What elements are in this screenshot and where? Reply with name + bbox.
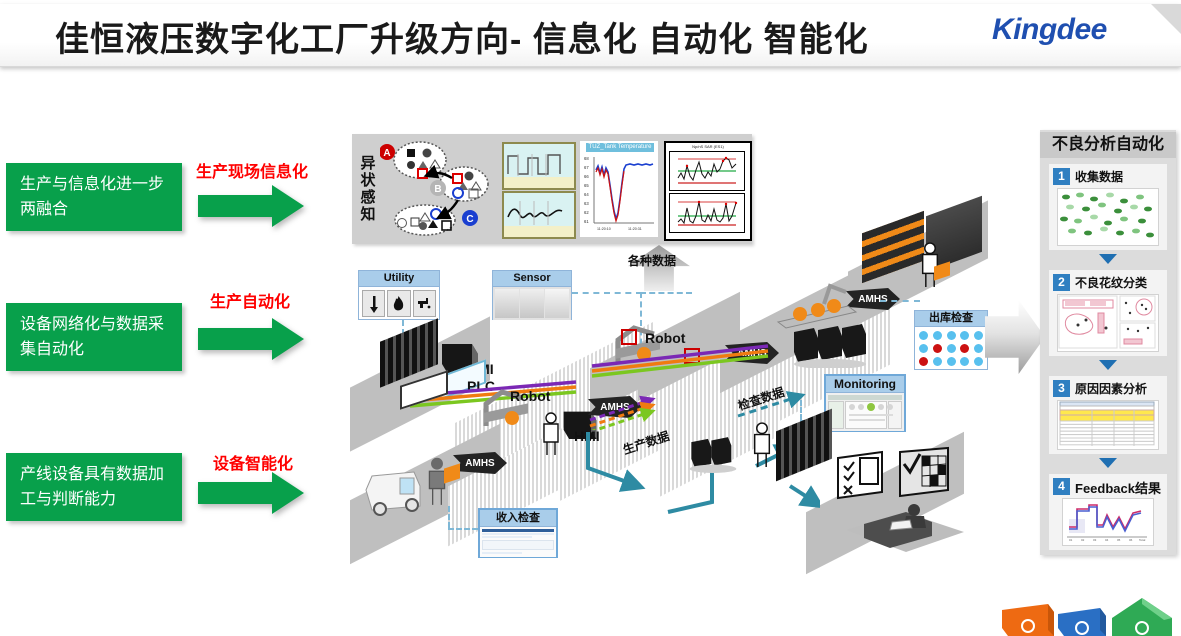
block-3-label: 产线设备具有数据加工与判断能力: [20, 466, 164, 508]
faucet-icon[interactable]: [413, 290, 436, 317]
analysis-step-1-thumb: [1057, 188, 1159, 246]
svg-text:11:20:10: 11:20:10: [597, 227, 611, 231]
svg-text:64: 64: [584, 192, 589, 197]
analysis-step-3-thumb: [1057, 400, 1159, 450]
analysis-arrow-2: [1099, 360, 1117, 370]
svg-text:A: A: [383, 148, 390, 159]
analysis-step-3[interactable]: 3 原因因素分析: [1049, 376, 1167, 454]
svg-text:04: 04: [1105, 538, 1109, 542]
outgoing-check-dot: [947, 357, 956, 366]
outgoing-check-dot: [960, 344, 969, 353]
outgoing-check-dot: [960, 331, 969, 340]
analysis-step-1[interactable]: 1 收集数据: [1049, 164, 1167, 250]
highlight-marker-1: [621, 329, 637, 345]
analysis-arrow-3: [1099, 458, 1117, 468]
svg-text:01: 01: [1069, 538, 1073, 542]
green-arrow-1: [198, 185, 304, 227]
outgoing-check-dot: [919, 357, 928, 366]
svg-text:65: 65: [584, 183, 589, 188]
outgoing-check-dot: [919, 344, 928, 353]
outgoing-check-row: [919, 357, 983, 366]
sidebar-item-block-3[interactable]: 产线设备具有数据加工与判断能力: [6, 453, 182, 521]
sensor-link-h: [572, 292, 642, 294]
analysis-step-2[interactable]: 2 不良花纹分类: [1049, 270, 1167, 356]
label-robot-1: Robot: [510, 388, 550, 404]
cluster-diagram: A B C: [380, 138, 492, 240]
worker-figure-3: [750, 422, 774, 468]
svg-text:62: 62: [584, 210, 589, 215]
incoming-link-h: [448, 528, 478, 530]
label-various-data: 各种数据: [628, 252, 676, 269]
svg-text:68: 68: [584, 156, 589, 161]
outgoing-check-dot: [933, 344, 942, 353]
monitor-cluster: [790, 322, 874, 368]
svg-text:C: C: [466, 214, 473, 225]
svg-text:67: 67: [584, 165, 589, 170]
spc-chart-upper: [669, 151, 745, 191]
outgoing-check-row: [919, 331, 983, 340]
slide-canvas: 佳恒液压数字化工厂升级方向- 信息化 自动化 智能化 Kingdee 生产与信息…: [0, 0, 1181, 625]
svg-text:63: 63: [584, 201, 589, 206]
outgoing-check-dot: [960, 357, 969, 366]
anomaly-sensing-label: 异状感知: [356, 140, 378, 238]
svg-text:11:20:31: 11:20:31: [628, 227, 642, 231]
outgoing-check-dot: [947, 331, 956, 340]
monitoring-panel[interactable]: Monitoring: [824, 374, 906, 432]
green-arrow-2: [198, 318, 304, 360]
outgoing-check-dot: [974, 331, 983, 340]
analysis-step-4-label: Feedback结果: [1075, 478, 1161, 497]
svg-text:03: 03: [1093, 538, 1097, 542]
monitoring-title: Monitoring: [826, 376, 904, 393]
spc-chart-title: Np/nS SAR (ES1): [666, 144, 750, 149]
monitor-cluster-2: [688, 430, 758, 476]
svg-text:B: B: [434, 184, 441, 195]
mini-chart-wave: [502, 191, 576, 239]
footer-logo-blocks: [996, 596, 1181, 636]
arrow-label-1: 生产现场信息化: [196, 158, 308, 182]
green-arrow-3: [198, 472, 304, 514]
page-title: 佳恒液压数字化工厂升级方向- 信息化 自动化 智能化: [55, 12, 869, 61]
sensor-thumb-3: [545, 289, 569, 318]
analysis-step-2-number: 2: [1053, 274, 1070, 291]
outgoing-check-dot: [933, 357, 942, 366]
outgoing-check-dot: [933, 331, 942, 340]
tank-temperature-chart-title: TUZ_Tank Temperature: [586, 143, 654, 152]
outgoing-check-dot: [974, 357, 983, 366]
incoming-check-panel[interactable]: 收入检查: [478, 508, 558, 558]
arrow-label-3: 设备智能化: [213, 450, 293, 474]
mini-chart-square-wave: [502, 142, 576, 190]
anomaly-sensing-strip: 异状感知: [352, 134, 752, 244]
outgoing-check-dot: [974, 344, 983, 353]
block-2-label: 设备网络化与数据采集自动化: [20, 316, 164, 358]
utility-panel[interactable]: Utility: [358, 270, 440, 320]
to-analysis-arrow: [985, 300, 1045, 374]
fiber-cables-2: [590, 344, 790, 388]
outgoing-check-grid: [915, 327, 987, 370]
thermometer-icon[interactable]: [362, 290, 385, 317]
svg-text:61: 61: [584, 219, 589, 224]
slide-title-bar: 佳恒液压数字化工厂升级方向- 信息化 自动化 智能化 Kingdee: [0, 4, 1181, 67]
worker-figure-1: [540, 412, 562, 456]
outgoing-check-dot: [947, 344, 956, 353]
incoming-link-v: [448, 506, 450, 528]
outgoing-check-link: [880, 300, 920, 302]
outgoing-check-row: [919, 344, 983, 353]
tank-temperature-chart: TUZ_Tank Temperature 686766 656463 6261 …: [580, 141, 658, 237]
analysis-step-1-label: 收集数据: [1075, 168, 1123, 185]
office-desk-scene: [840, 488, 970, 558]
analysis-step-2-label: 不良花纹分类: [1075, 274, 1147, 291]
dashed-color-arrows: [588, 394, 672, 430]
analysis-panel: 不良分析自动化 1 收集数据: [1040, 130, 1176, 555]
analysis-step-3-number: 3: [1053, 380, 1070, 397]
sensor-link-h2: [640, 292, 692, 294]
block-1-label: 生产与信息化进一步两融合: [20, 176, 164, 218]
kingdee-logo: Kingdee: [992, 13, 1107, 47]
spc-chart-box: Np/nS SAR (ES1): [664, 141, 752, 241]
svg-text:06: 06: [1129, 538, 1133, 542]
arrow-label-2: 生产自动化: [210, 288, 290, 312]
analysis-step-2-thumb: [1057, 294, 1159, 352]
sensor-thumb-1: [495, 289, 519, 318]
sensor-panel[interactable]: Sensor: [492, 270, 572, 320]
svg-text:Total: Total: [1139, 538, 1146, 542]
analysis-step-3-label: 原因因素分析: [1075, 380, 1147, 397]
analysis-step-4-thumb: 010203 040506 Total: [1062, 498, 1154, 546]
svg-text:66: 66: [584, 174, 589, 179]
analysis-arrow-1: [1099, 254, 1117, 264]
analysis-step-4-number: 4: [1053, 478, 1070, 495]
sensor-panel-title: Sensor: [493, 271, 571, 287]
sidebar-item-block-2[interactable]: 设备网络化与数据采集自动化: [6, 303, 182, 371]
utility-panel-title: Utility: [359, 271, 439, 287]
analysis-step-4[interactable]: 4 Feedback结果 010203 040506 Total: [1049, 474, 1167, 550]
sensor-thumb-2: [520, 289, 544, 318]
spc-chart-lower: [669, 193, 745, 233]
corner-fold-decoration: [1151, 4, 1181, 34]
outgoing-check-title: 出库检查: [915, 311, 987, 327]
flame-icon[interactable]: [387, 290, 410, 317]
outgoing-check-panel[interactable]: 出库检查: [914, 310, 988, 370]
sidebar-item-block-1[interactable]: 生产与信息化进一步两融合: [6, 163, 182, 231]
analysis-panel-title: 不良分析自动化: [1040, 132, 1176, 158]
svg-text:05: 05: [1117, 538, 1121, 542]
incoming-check-title: 收入检查: [480, 510, 556, 527]
analysis-step-1-number: 1: [1053, 168, 1070, 185]
outgoing-check-dot: [919, 331, 928, 340]
svg-text:02: 02: [1081, 538, 1085, 542]
